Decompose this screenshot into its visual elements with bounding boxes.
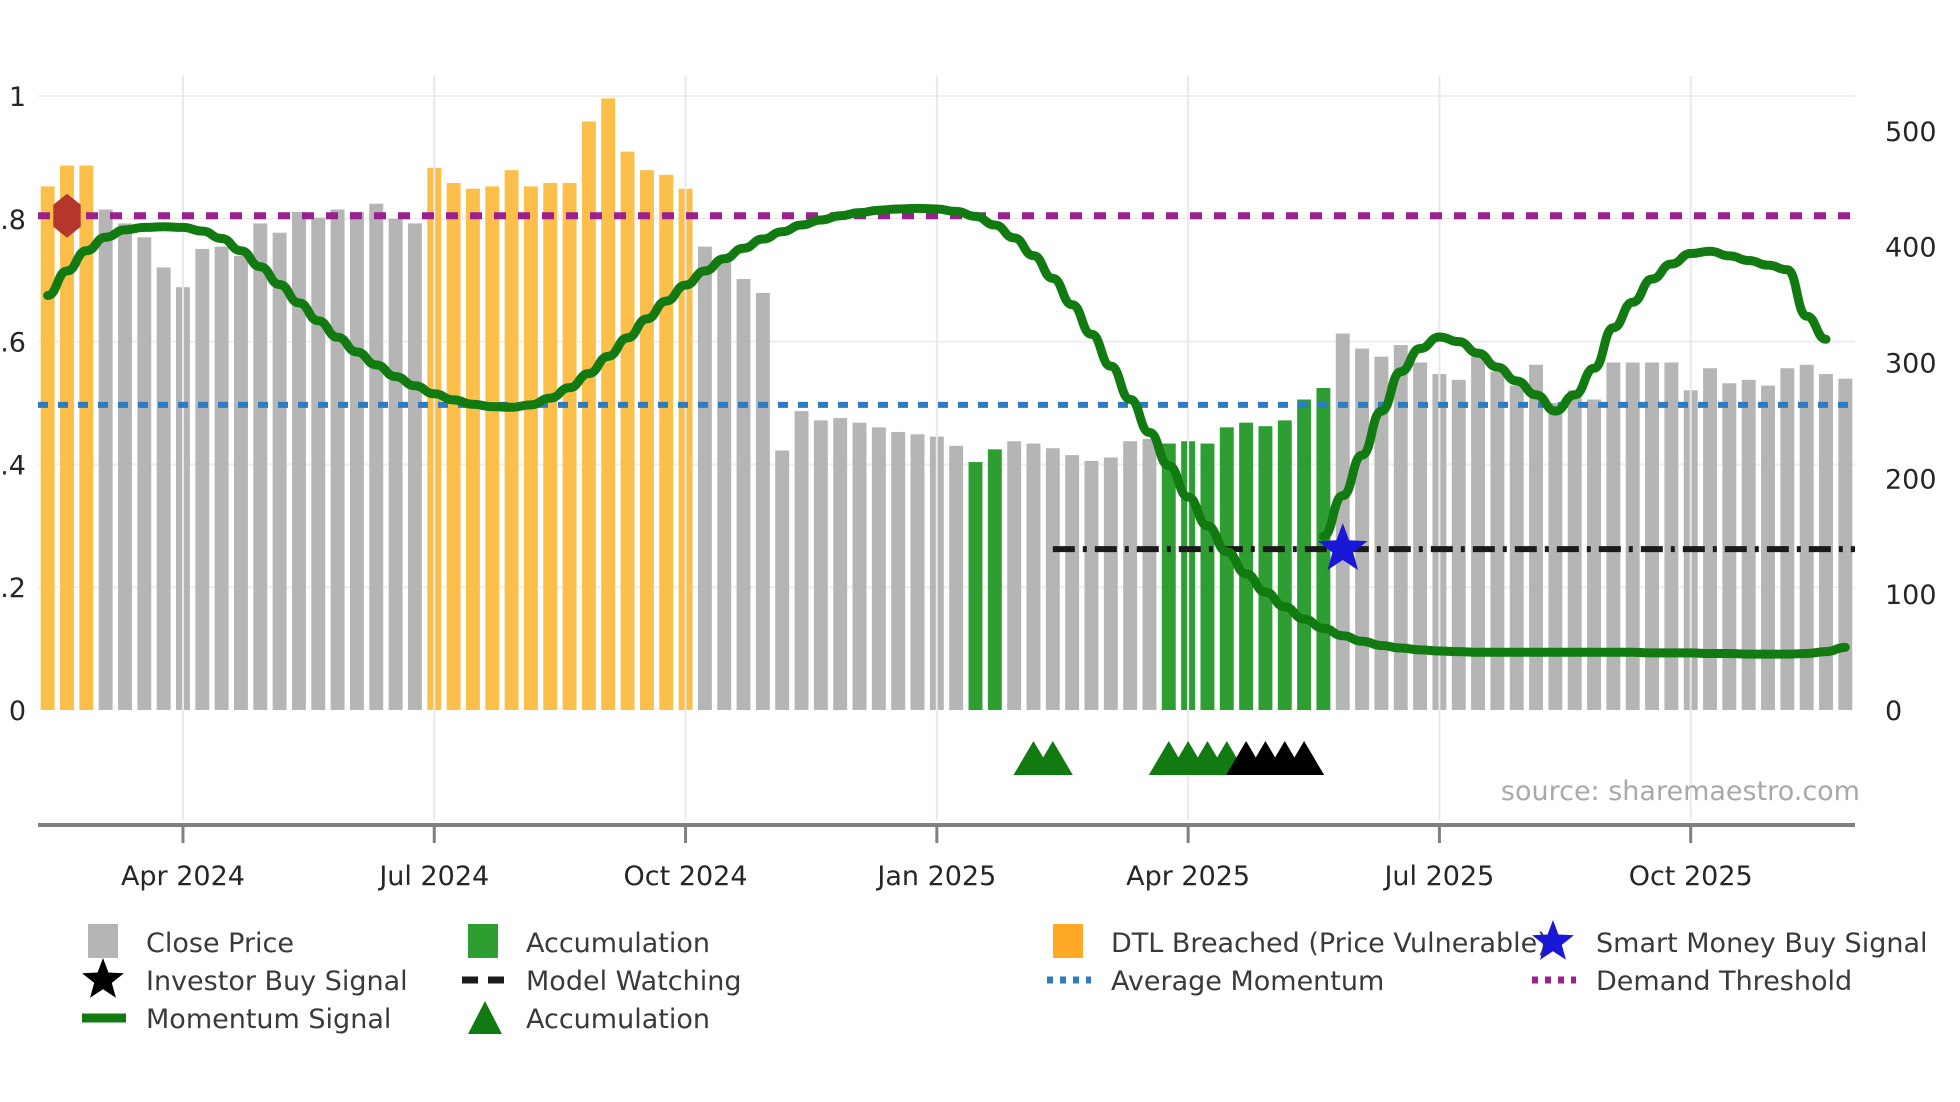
bar-dtl-breached	[582, 121, 596, 710]
bar-close-price	[1065, 455, 1079, 710]
y-axis-left-tick-label: 0.6	[0, 328, 26, 359]
bar-accumulation	[1258, 426, 1272, 710]
y-axis-right-tick-label: 300	[1885, 348, 1937, 379]
bar-close-price	[1742, 380, 1756, 710]
legend-item-label: Average Momentum	[1111, 966, 1384, 997]
bar-close-price	[1452, 380, 1466, 710]
bar-close-price	[891, 432, 905, 710]
legend-item-label: DTL Breached (Price Vulnerable)	[1111, 928, 1548, 959]
bar-close-price	[717, 261, 731, 710]
legend-close-price[interactable]: Close Price	[88, 924, 294, 959]
bar-close-price	[1143, 439, 1157, 710]
bar-close-price	[814, 420, 828, 710]
bar-close-price	[911, 434, 925, 710]
bar-close-price	[698, 247, 712, 710]
bar-dtl-breached	[640, 170, 654, 710]
source-note: source: sharemaestro.com	[1501, 776, 1860, 807]
bar-dtl-breached	[505, 170, 519, 710]
y-axis-left-tick-label: 1	[9, 82, 26, 113]
legend-item-label: Smart Money Buy Signal	[1596, 928, 1928, 959]
bar-close-price	[331, 210, 345, 710]
bar-close-price	[118, 223, 132, 710]
legend-swatch-square	[468, 924, 498, 958]
y-axis-right-tick-label: 100	[1885, 580, 1937, 611]
bar-close-price	[1664, 362, 1678, 710]
bar-close-price	[1490, 372, 1504, 710]
legend-item-label: Demand Threshold	[1596, 966, 1852, 997]
bar-close-price	[1027, 444, 1041, 710]
y-axis-left-tick-label: 0.2	[0, 573, 26, 604]
legend-item-label: Close Price	[146, 928, 294, 959]
legend-investor-buy[interactable]: Investor Buy Signal	[82, 958, 408, 998]
bar-close-price	[1104, 457, 1118, 710]
x-axis-tick-label: Oct 2024	[624, 861, 748, 892]
bar-close-price	[311, 218, 325, 710]
y-axis-left-tick-label: 0.4	[0, 450, 26, 481]
bar-close-price	[872, 427, 886, 710]
bar-close-price	[273, 233, 287, 710]
x-axis-tick-label: Jul 2024	[377, 861, 489, 892]
legend-item-label: Investor Buy Signal	[146, 966, 408, 997]
bar-close-price	[1123, 441, 1137, 710]
bar-accumulation	[988, 449, 1002, 710]
bar-close-price	[369, 204, 383, 710]
legend-swatch-square	[1053, 924, 1083, 958]
bar-dtl-breached	[60, 166, 74, 710]
bar-close-price	[1838, 379, 1852, 710]
y-axis-left-tick-label: 0	[9, 696, 26, 727]
legend-accumulation-triangle[interactable]: Accumulation	[468, 1001, 710, 1035]
bar-dtl-breached	[447, 183, 461, 710]
legend-swatch-triangle	[468, 1001, 502, 1034]
bar-close-price	[1471, 357, 1485, 710]
bar-close-price	[1800, 365, 1814, 710]
bar-dtl-breached	[563, 183, 577, 710]
bar-close-price	[737, 279, 751, 710]
accumulation-triangle-markers	[1013, 741, 1324, 775]
bar-close-price	[389, 219, 403, 710]
legend-smart-money-buy[interactable]: Smart Money Buy Signal	[1532, 920, 1927, 960]
bar-close-price	[234, 256, 248, 710]
bar-close-price	[1587, 400, 1601, 710]
legend-item-label: Model Watching	[526, 966, 741, 997]
legend-demand-threshold[interactable]: Demand Threshold	[1532, 966, 1852, 997]
legend-item-label: Accumulation	[526, 1004, 710, 1035]
bar-close-price	[853, 423, 867, 710]
bar-close-price	[1007, 441, 1021, 710]
legend-item-label: Momentum Signal	[146, 1004, 391, 1035]
bar-accumulation	[1278, 420, 1292, 710]
x-axis-tick-label: Apr 2025	[1126, 861, 1250, 892]
bar-close-price	[756, 293, 770, 710]
bar-dtl-breached	[621, 152, 635, 710]
x-axis-tick-label: Jul 2025	[1382, 861, 1494, 892]
legend-average-momentum[interactable]: Average Momentum	[1047, 966, 1384, 997]
legend-accumulation-bar[interactable]: Accumulation	[468, 924, 710, 959]
bar-accumulation	[1162, 444, 1176, 710]
bar-accumulation	[1200, 444, 1214, 710]
bar-accumulation	[1297, 400, 1311, 710]
legend-swatch-square	[88, 924, 118, 958]
bar-close-price	[350, 212, 364, 710]
bar-accumulation	[969, 462, 983, 710]
bar-dtl-breached	[524, 186, 538, 710]
bar-close-price	[408, 223, 422, 710]
bar-close-price	[1336, 333, 1350, 710]
bar-close-price	[1645, 362, 1659, 710]
y-axis-right-tick-label: 200	[1885, 464, 1937, 495]
bar-accumulation	[1220, 427, 1234, 710]
bar-close-price	[1085, 461, 1099, 710]
bar-close-price	[195, 249, 209, 710]
bar-close-price	[137, 237, 151, 710]
legend: Close PriceAccumulationDTL Breached (Pri…	[82, 920, 1928, 1035]
y-axis-left-tick-label: 0.8	[0, 205, 26, 236]
x-axis-tick-label: Apr 2024	[121, 861, 245, 892]
bar-close-price	[775, 451, 789, 711]
bar-dtl-breached	[485, 186, 499, 710]
bar-close-price	[1606, 362, 1620, 710]
legend-model-watching[interactable]: Model Watching	[462, 966, 741, 997]
bar-close-price	[1548, 403, 1562, 710]
legend-swatch-star	[82, 958, 124, 998]
bar-close-price	[1046, 448, 1060, 710]
bar-close-price	[1626, 362, 1640, 710]
legend-dtl-breached[interactable]: DTL Breached (Price Vulnerable)	[1053, 924, 1548, 959]
y-axis-right-tick-label: 400	[1885, 233, 1937, 264]
bar-close-price	[1413, 362, 1427, 710]
bar-close-price	[215, 247, 229, 710]
legend-item-label: Accumulation	[526, 928, 710, 959]
bar-close-price	[1703, 368, 1717, 710]
y-axis-right-tick-label: 500	[1885, 117, 1937, 148]
bar-dtl-breached	[659, 175, 673, 710]
bar-dtl-breached	[543, 183, 557, 710]
x-axis-tick-label: Oct 2025	[1629, 861, 1753, 892]
demand-threshold-hexagon-marker[interactable]	[53, 194, 80, 238]
bar-close-price	[292, 212, 306, 710]
bar-dtl-breached	[466, 189, 480, 710]
bar-close-price	[833, 418, 847, 710]
bar-close-price	[1394, 345, 1408, 710]
gridlines	[38, 96, 1855, 587]
bar-close-price	[99, 210, 113, 710]
bar-dtl-breached	[41, 186, 55, 710]
bar-close-price	[795, 411, 809, 710]
source-label: source: sharemaestro.com	[1501, 776, 1860, 807]
legend-momentum-signal[interactable]: Momentum Signal	[82, 1004, 391, 1035]
chart-canvas: Apr 2024Jul 2024Oct 2024Jan 2025Apr 2025…	[0, 0, 1960, 1102]
x-axis-tick-label: Jan 2025	[875, 861, 996, 892]
bar-close-price	[157, 267, 171, 710]
bar-close-price	[253, 223, 267, 710]
bar-close-price	[949, 446, 963, 710]
bar-close-price	[1529, 365, 1543, 710]
bar-close-price	[1780, 368, 1794, 710]
stock-momentum-chart: Apr 2024Jul 2024Oct 2024Jan 2025Apr 2025…	[0, 0, 1960, 1102]
bar-close-price	[1819, 374, 1833, 710]
y-axis-right-tick-label: 0	[1885, 696, 1902, 727]
